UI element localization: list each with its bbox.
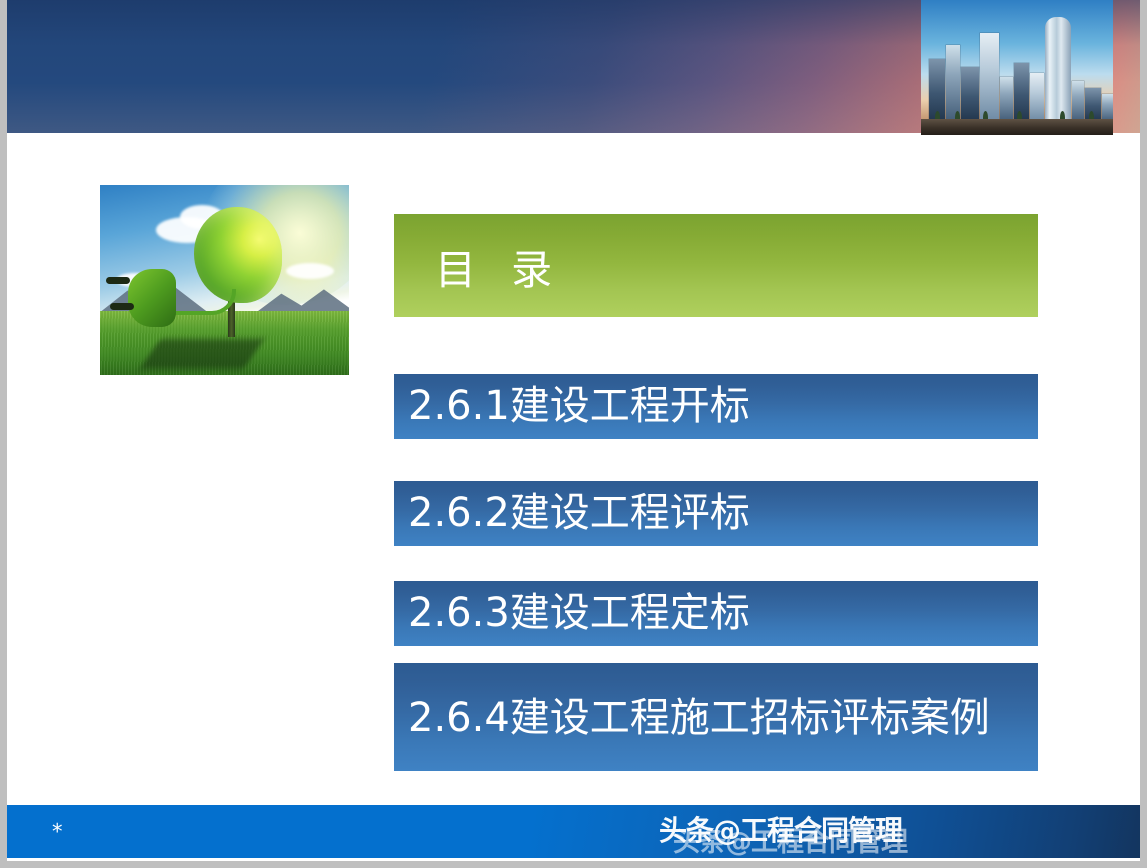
slide-canvas: 目 录 2.6.1建设工程开标 2.6.2建设工程评标 2.6.3建设工程定标 … [7, 0, 1140, 861]
toc-item-label: 2.6.1建设工程开标 [394, 383, 760, 430]
city-skyline-photo [921, 0, 1113, 135]
toc-item-2-6-3[interactable]: 2.6.3建设工程定标 [394, 581, 1038, 646]
green-energy-tree-photo [100, 185, 349, 375]
toc-item-2-6-1[interactable]: 2.6.1建设工程开标 [394, 374, 1038, 439]
slide-number: * [52, 821, 63, 842]
toc-item-2-6-4[interactable]: 2.6.4建设工程施工招标评标案例 [394, 663, 1038, 771]
toc-item-label: 2.6.2建设工程评标 [394, 490, 760, 537]
toc-heading-bar: 目 录 [394, 214, 1038, 317]
footer-bar: * [7, 805, 1140, 858]
toc-item-label: 2.6.4建设工程施工招标评标案例 [394, 693, 1000, 741]
slide-root: 目 录 2.6.1建设工程开标 2.6.2建设工程评标 2.6.3建设工程定标 … [0, 0, 1147, 868]
toc-item-label: 2.6.3建设工程定标 [394, 590, 760, 637]
page-title: 目 录 [394, 236, 555, 296]
toc-item-2-6-2[interactable]: 2.6.2建设工程评标 [394, 481, 1038, 546]
